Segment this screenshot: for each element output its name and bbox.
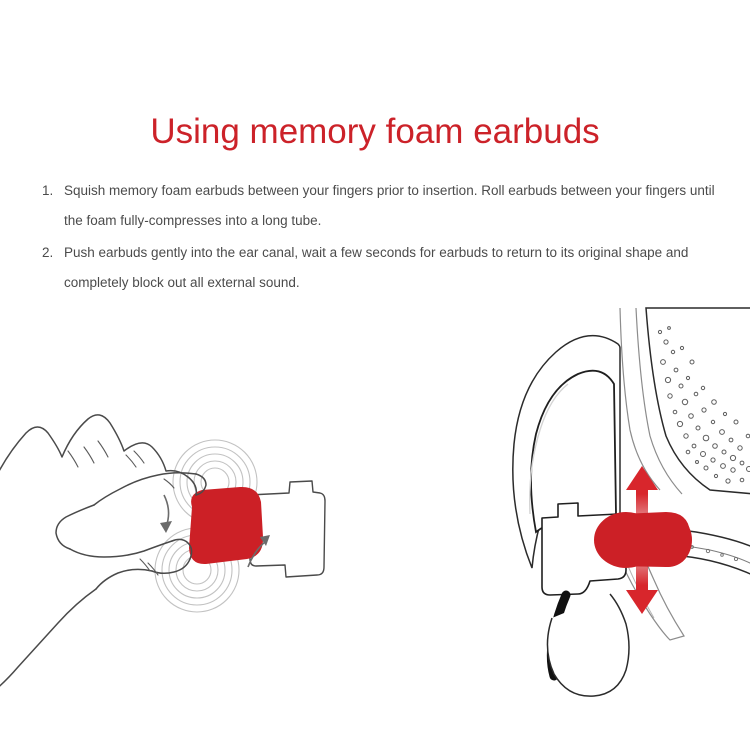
page-root: Using memory foam earbuds 1. Squish memo… (0, 0, 750, 750)
list-item-number: 1. (38, 176, 64, 206)
red-foam-tip (189, 487, 263, 564)
instruction-list: 1. Squish memory foam earbuds between yo… (38, 176, 722, 300)
list-item-number: 2. (38, 238, 64, 268)
ear-cross-section-illustration (470, 318, 750, 718)
hand-illustration-svg (0, 385, 360, 725)
list-item: 1. Squish memory foam earbuds between yo… (38, 176, 722, 236)
page-title: Using memory foam earbuds (0, 112, 750, 152)
ear-illustration-svg (470, 318, 750, 718)
list-item: 2. Push earbuds gently into the ear cana… (38, 238, 722, 298)
hand-squishing-earbud-illustration (0, 385, 360, 725)
compress-arrow-down (160, 495, 172, 533)
list-item-text: Push earbuds gently into the ear canal, … (64, 238, 722, 298)
list-item-text: Squish memory foam earbuds between your … (64, 176, 722, 236)
red-foam-tip (594, 512, 692, 568)
